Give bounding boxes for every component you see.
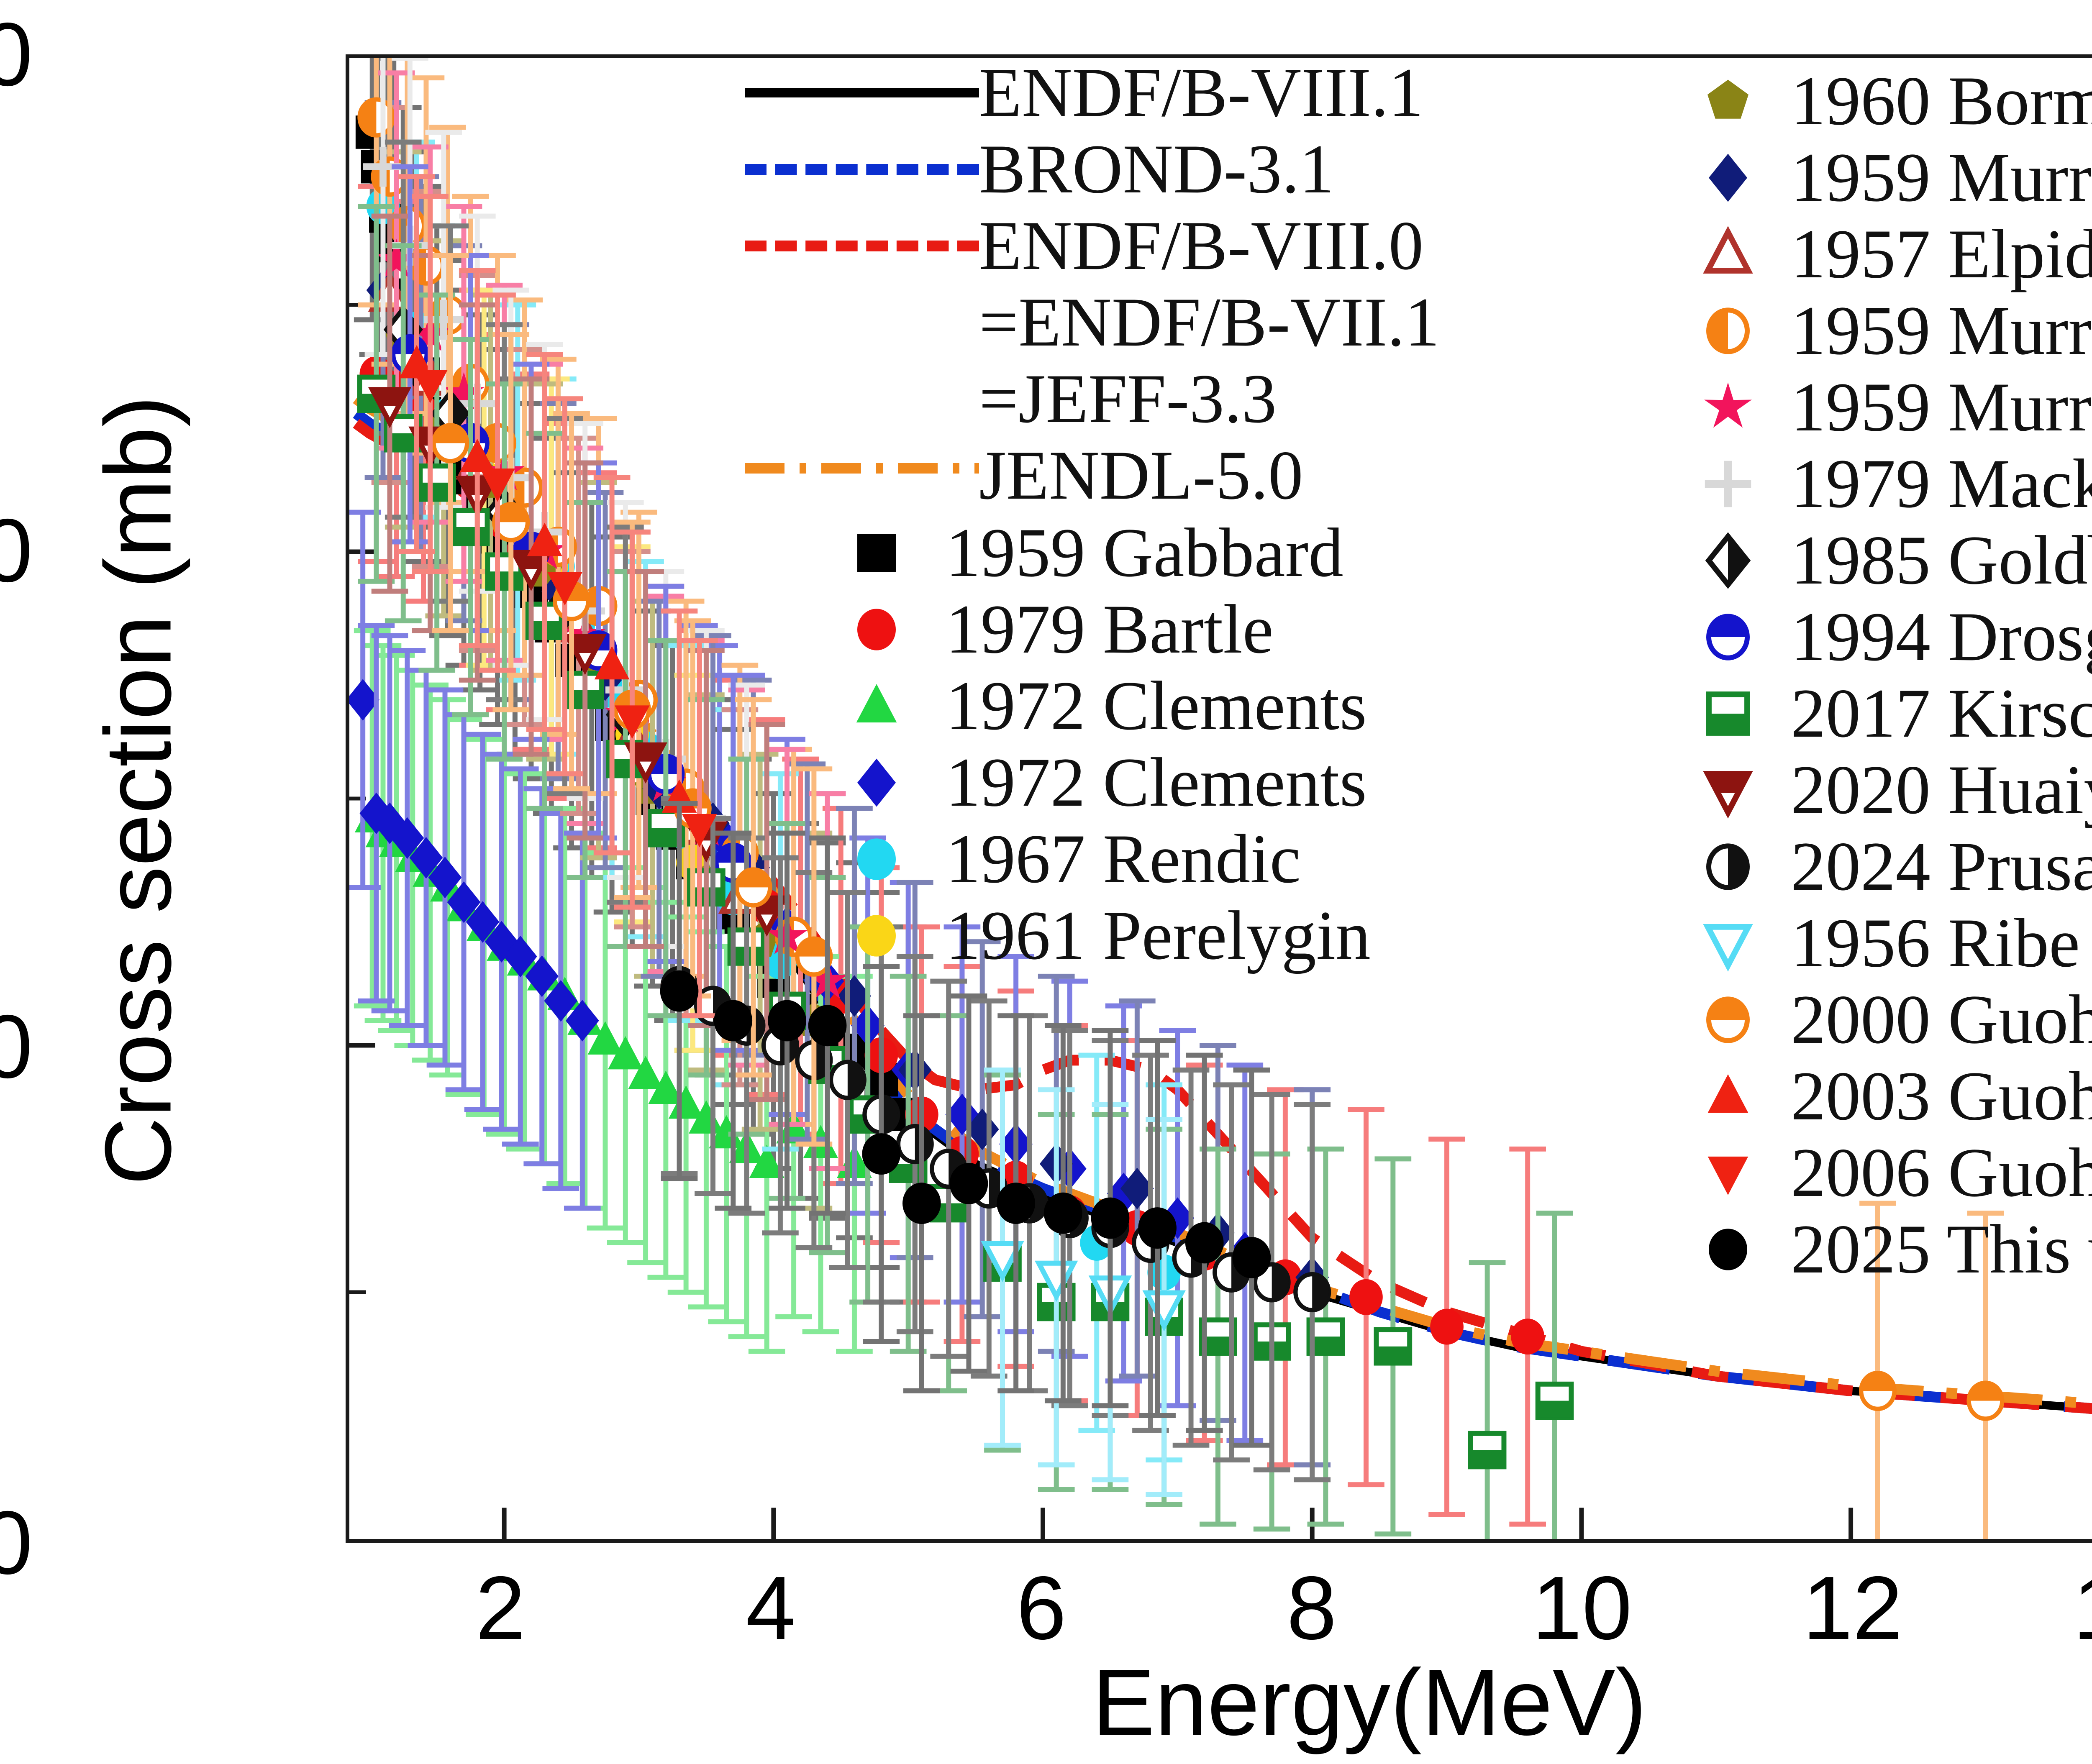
legend-item[interactable]: ENDF/B-VIII.0 bbox=[745, 207, 1440, 284]
legend-item[interactable]: 1972 Clements bbox=[808, 744, 1371, 821]
legend-label: 1959 Gabbard bbox=[946, 518, 1343, 588]
marker-triangle-up-icon bbox=[1665, 1065, 1791, 1128]
marker-circle-icon bbox=[808, 828, 946, 891]
marker-circle-icon bbox=[808, 904, 946, 967]
legend-label: 1957 Elpidinskii bbox=[1791, 219, 2092, 289]
legend-label: ENDF/B-VIII.0 bbox=[979, 211, 1423, 281]
legend-item[interactable]: 2025 This work bbox=[1665, 1211, 2092, 1288]
marker-circle-halfright-icon bbox=[1665, 835, 1791, 898]
legend-item[interactable]: 1959 Murray bbox=[1665, 292, 2092, 369]
legend-swatch-dashdot bbox=[745, 451, 979, 501]
legend-item[interactable]: 1959 Murray bbox=[1665, 369, 2092, 445]
legend-label: 1979 Macklin bbox=[1791, 449, 2092, 519]
x-tick-label: 2 bbox=[475, 1556, 526, 1660]
legend-label: 1959 Murray bbox=[1791, 296, 2092, 366]
legend-label: 2017 Kirsch bbox=[1791, 678, 2092, 748]
legend-item[interactable]: 2006 Guohuo Zhang bbox=[1665, 1134, 2092, 1211]
marker-circle-halftop-icon bbox=[1665, 606, 1791, 668]
y-axis-label: Cross section (mb) bbox=[84, 205, 192, 1376]
legend-item-alias: =JEFF-3.3 bbox=[745, 361, 1440, 437]
legend-label: 1972 Clements bbox=[946, 671, 1367, 741]
legend-label: 1956 Ribe bbox=[1791, 908, 2080, 978]
marker-square-halfbottom-icon bbox=[1665, 682, 1791, 745]
legend-item[interactable]: 1972 Clements bbox=[808, 668, 1371, 744]
legend-item[interactable]: 1994 Drosg bbox=[1665, 599, 2092, 675]
marker-square-icon bbox=[808, 522, 946, 584]
x-tick-label: 10 bbox=[1532, 1556, 1632, 1660]
marker-triangle-down-open-icon bbox=[1665, 912, 1791, 975]
marker-circle-icon bbox=[1665, 1218, 1791, 1281]
x-tick-label: 12 bbox=[1802, 1556, 1902, 1660]
legend-swatch-dashed bbox=[745, 144, 979, 195]
legend-swatch-solid bbox=[745, 68, 979, 118]
legend-item[interactable]: 1961 Perelygin bbox=[808, 897, 1371, 974]
marker-triangle-down-half-icon bbox=[1665, 759, 1791, 822]
marker-triangle-open-icon bbox=[1665, 223, 1791, 286]
legend-evaluations: ENDF/B-VIII.1 BROND-3.1 ENDF/B-VIII.0 =E… bbox=[745, 54, 1440, 514]
marker-circle-icon bbox=[808, 598, 946, 661]
legend-label: BROND-3.1 bbox=[979, 134, 1334, 204]
marker-diamond-icon bbox=[1665, 146, 1791, 209]
legend-swatch-none bbox=[745, 374, 979, 424]
y-tick-label: 200 bbox=[0, 499, 33, 602]
legend-swatch-none bbox=[745, 297, 979, 348]
x-axis-label: Energy(MeV) bbox=[346, 1648, 2092, 1756]
legend-item[interactable]: 1959 Gabbard bbox=[808, 515, 1371, 591]
marker-diamond-icon bbox=[808, 751, 946, 814]
legend-label: 2020 Huaiyong Bai bbox=[1791, 755, 2092, 825]
legend-item[interactable]: 2024 Prusachenko bbox=[1665, 828, 2092, 905]
legend-item[interactable]: 1979 Macklin bbox=[1665, 445, 2092, 522]
chart-root: Cross section (mb) Energy(MeV) 300 200 1… bbox=[0, 0, 2092, 1764]
legend-item[interactable]: 1956 Ribe bbox=[1665, 905, 2092, 981]
legend-item[interactable]: JENDL-5.0 bbox=[745, 437, 1440, 514]
y-tick-label: 300 bbox=[0, 3, 33, 106]
legend-item[interactable]: 1985 Goldberg bbox=[1665, 522, 2092, 599]
y-tick-label: 0 bbox=[0, 1491, 33, 1595]
legend-item[interactable]: 1967 Rendic bbox=[808, 821, 1371, 897]
legend-label: 1994 Drosg bbox=[1791, 602, 2092, 672]
legend-item[interactable]: 2020 Huaiyong Bai bbox=[1665, 752, 2092, 828]
x-tick-label: 14 bbox=[2073, 1556, 2092, 1660]
legend-item[interactable]: BROND-3.1 bbox=[745, 131, 1440, 207]
marker-triangle-down-icon bbox=[1665, 1142, 1791, 1204]
legend-item[interactable]: 1957 Elpidinskii bbox=[1665, 216, 2092, 292]
marker-plus-icon bbox=[1665, 453, 1791, 515]
legend-item[interactable]: 1979 Bartle bbox=[808, 591, 1371, 668]
legend-datasets-right: 1960 Bormann 1959 Murray 1957 Elpidinski… bbox=[1665, 63, 2092, 1288]
marker-triangle-up-icon bbox=[808, 675, 946, 737]
legend-label: 2025 This work bbox=[1791, 1214, 2092, 1284]
legend-item[interactable]: 2017 Kirsch bbox=[1665, 675, 2092, 752]
legend-item[interactable]: ENDF/B-VIII.1 bbox=[745, 54, 1440, 131]
legend-label: JENDL-5.0 bbox=[979, 440, 1303, 510]
x-tick-label: 4 bbox=[746, 1556, 796, 1660]
legend-label: 1972 Clements bbox=[946, 748, 1367, 817]
legend-swatch-dotted bbox=[745, 221, 979, 271]
legend-label: 1959 Murray bbox=[1791, 372, 2092, 442]
x-tick-label: 8 bbox=[1287, 1556, 1337, 1660]
legend-item[interactable]: 2003 Guohuo Zhang bbox=[1665, 1058, 2092, 1134]
marker-star-icon bbox=[1665, 376, 1791, 439]
legend-label: 1979 Bartle bbox=[946, 594, 1274, 664]
legend-label: 1960 Bormann bbox=[1791, 66, 2092, 136]
legend-item-alias: =ENDF/B-VII.1 bbox=[745, 284, 1440, 361]
legend-label: 2024 Prusachenko bbox=[1791, 832, 2092, 901]
legend-item[interactable]: 1959 Murray bbox=[1665, 139, 2092, 216]
legend-datasets-left: 1959 Gabbard 1979 Bartle 1972 Clements 1… bbox=[808, 515, 1371, 974]
legend-label: 1967 Rendic bbox=[946, 824, 1301, 894]
marker-circle-halftop-icon bbox=[1665, 988, 1791, 1051]
legend-label: =JEFF-3.3 bbox=[979, 364, 1277, 434]
marker-diamond-halfright-icon bbox=[1665, 529, 1791, 592]
marker-pentagon-icon bbox=[1665, 70, 1791, 133]
legend-label: 1985 Goldberg bbox=[1791, 525, 2092, 595]
marker-circle-halfleft-icon bbox=[1665, 300, 1791, 362]
legend-item[interactable]: 2000 Guohui Zhang bbox=[1665, 981, 2092, 1058]
y-tick-label: 100 bbox=[0, 995, 33, 1098]
legend-label: 2000 Guohui Zhang bbox=[1791, 985, 2092, 1055]
x-tick-label: 6 bbox=[1016, 1556, 1067, 1660]
legend-label: 2003 Guohuo Zhang bbox=[1791, 1061, 2092, 1131]
legend-label: =ENDF/B-VII.1 bbox=[979, 287, 1440, 357]
legend-item[interactable]: 1960 Bormann bbox=[1665, 63, 2092, 139]
legend-label: ENDF/B-VIII.1 bbox=[979, 58, 1423, 128]
legend-label: 1961 Perelygin bbox=[946, 901, 1371, 970]
legend-label: 2006 Guohuo Zhang bbox=[1791, 1138, 2092, 1208]
legend-label: 1959 Murray bbox=[1791, 143, 2092, 212]
